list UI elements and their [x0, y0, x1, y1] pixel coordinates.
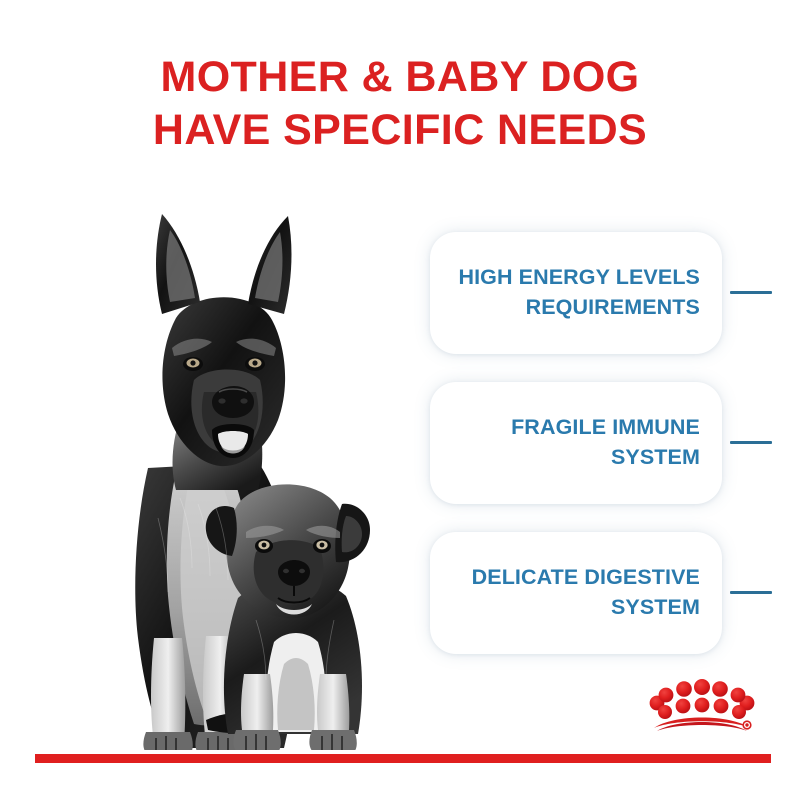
- feature-callout-text: HIGH ENERGY LEVELS REQUIREMENTS: [458, 263, 700, 322]
- page-title-line-2: HAVE SPECIFIC NEEDS: [0, 109, 800, 152]
- product-feature-panel: MOTHER & BABY DOG HAVE SPECIFIC NEEDS: [0, 0, 800, 800]
- feature-line-2: REQUIREMENTS: [458, 293, 700, 323]
- page-title-line-1: MOTHER & BABY DOG: [0, 56, 800, 99]
- callout-connector-line-3: [730, 591, 772, 594]
- registered-trademark-mark: [742, 720, 751, 729]
- callout-connector-line-1: [730, 291, 772, 294]
- feature-line-1: DELICATE DIGESTIVE: [472, 563, 700, 593]
- callout-connector-line-2: [730, 441, 772, 444]
- dog-photograph: [88, 168, 418, 750]
- crown-dots: [650, 679, 755, 719]
- feature-line-2: SYSTEM: [472, 593, 700, 623]
- feature-callout-fragile-immune: FRAGILE IMMUNE SYSTEM: [430, 382, 722, 504]
- bottom-accent-bar: [35, 754, 771, 763]
- feature-callout-text: FRAGILE IMMUNE SYSTEM: [511, 413, 700, 472]
- feature-callout-high-energy: HIGH ENERGY LEVELS REQUIREMENTS: [430, 232, 722, 354]
- feature-callout-delicate-digestive: DELICATE DIGESTIVE SYSTEM: [430, 532, 722, 654]
- page-title: MOTHER & BABY DOG HAVE SPECIFIC NEEDS: [0, 56, 800, 152]
- feature-line-1: FRAGILE IMMUNE: [511, 413, 700, 443]
- royal-canin-crown-logo: [648, 676, 756, 738]
- feature-line-1: HIGH ENERGY LEVELS: [458, 263, 700, 293]
- feature-line-2: SYSTEM: [511, 443, 700, 473]
- feature-callout-text: DELICATE DIGESTIVE SYSTEM: [472, 563, 700, 622]
